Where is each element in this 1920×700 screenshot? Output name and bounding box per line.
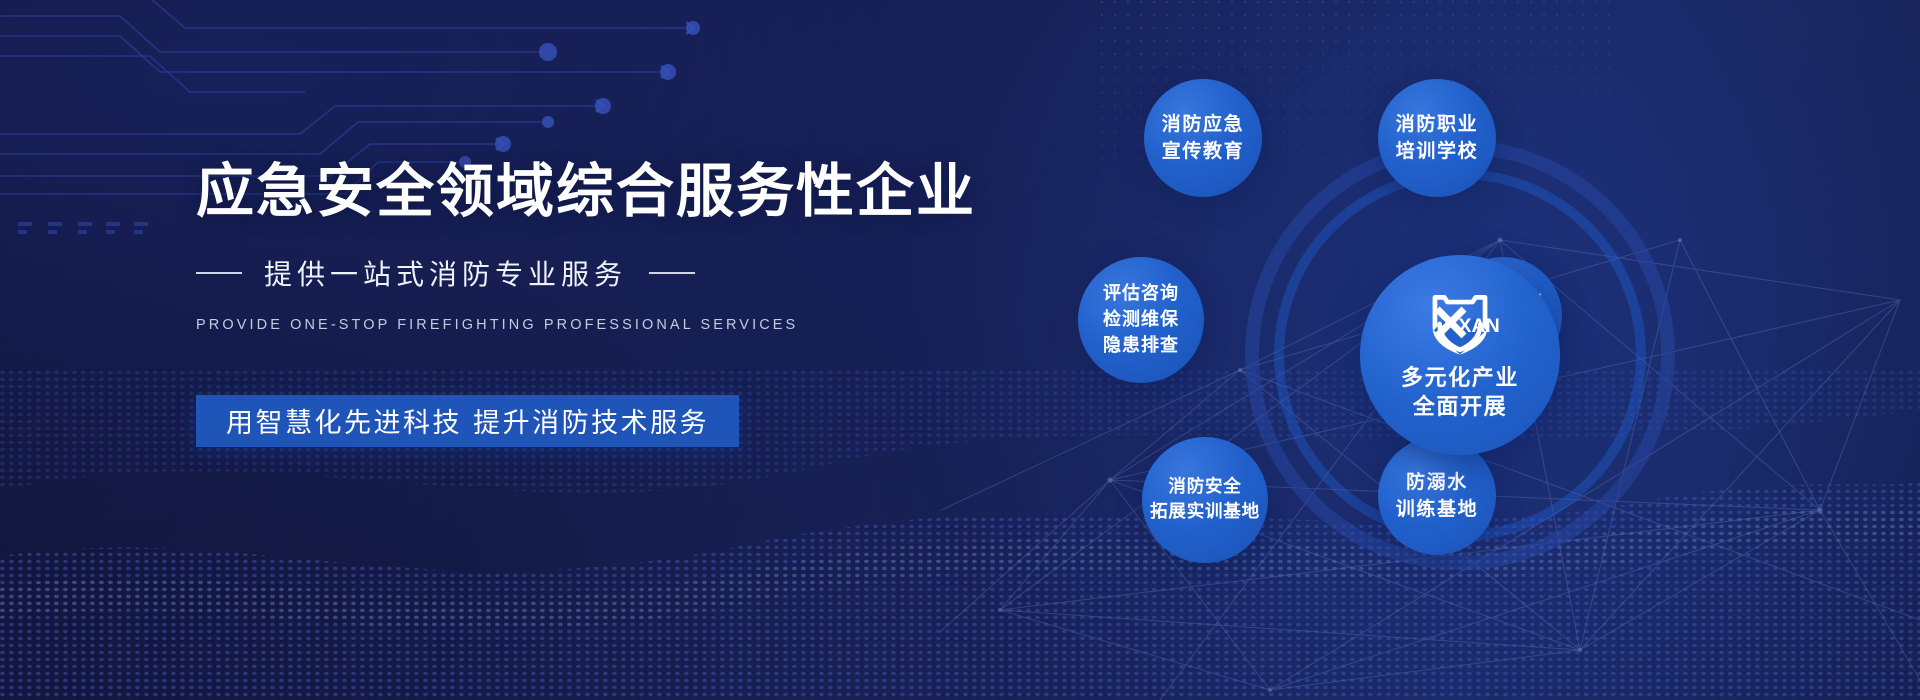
node-line-1: 评估咨询 [1103, 281, 1179, 307]
service-node-training-base[interactable]: 消防安全 拓展实训基地 [1142, 437, 1268, 563]
shield-logo-icon: XAN [1420, 288, 1500, 360]
hero-text-block: 应急安全领域综合服务性企业 提供一站式消防专业服务 PROVIDE ONE-ST… [196, 160, 1156, 447]
center-line-2: 全面开展 [1413, 393, 1507, 422]
center-line-1: 多元化产业 [1401, 364, 1519, 393]
node-line-2: 拓展实训基地 [1150, 500, 1260, 525]
node-line-3: 隐患排查 [1103, 333, 1179, 359]
service-node-vocational-school[interactable]: 消防职业 培训学校 [1378, 79, 1496, 197]
center-node-core-business[interactable]: XAN 多元化产业 全面开展 [1360, 255, 1560, 455]
subtitle-row: 提供一站式消防专业服务 [196, 253, 1156, 293]
service-node-assessment-inspection[interactable]: 评估咨询 检测维保 隐患排查 [1078, 257, 1204, 383]
rule-right [649, 272, 695, 274]
rule-left [196, 272, 242, 274]
logo-text: XAN [1458, 314, 1499, 336]
cta-banner[interactable]: 用智慧化先进科技 提升消防技术服务 [196, 395, 739, 447]
node-line-2: 检测维保 [1103, 307, 1179, 333]
node-line-1: 消防应急 [1162, 111, 1244, 138]
english-subtitle: PROVIDE ONE-STOP FIREFIGHTING PROFESSION… [196, 317, 1156, 333]
page-title: 应急安全领域综合服务性企业 [196, 160, 1156, 223]
cta-label: 用智慧化先进科技 提升消防技术服务 [226, 401, 709, 440]
services-orbit-diagram: 消防应急 宣传教育 消防职业 培训学校 评估咨询 检测维保 隐患排查 自主销售 … [1100, 45, 1820, 665]
node-line-1: 消防安全 [1168, 475, 1241, 500]
subtitle: 提供一站式消防专业服务 [264, 253, 627, 293]
node-line-1: 消防职业 [1396, 111, 1478, 138]
service-node-anti-drowning[interactable]: 防溺水 训练基地 [1378, 437, 1496, 555]
service-node-emergency-education[interactable]: 消防应急 宣传教育 [1144, 79, 1262, 197]
node-line-2: 宣传教育 [1162, 138, 1244, 165]
node-line-1: 防溺水 [1406, 469, 1468, 496]
hero-banner: 应急安全领域综合服务性企业 提供一站式消防专业服务 PROVIDE ONE-ST… [0, 0, 1920, 700]
node-line-2: 培训学校 [1396, 138, 1478, 165]
node-line-2: 训练基地 [1396, 496, 1478, 523]
